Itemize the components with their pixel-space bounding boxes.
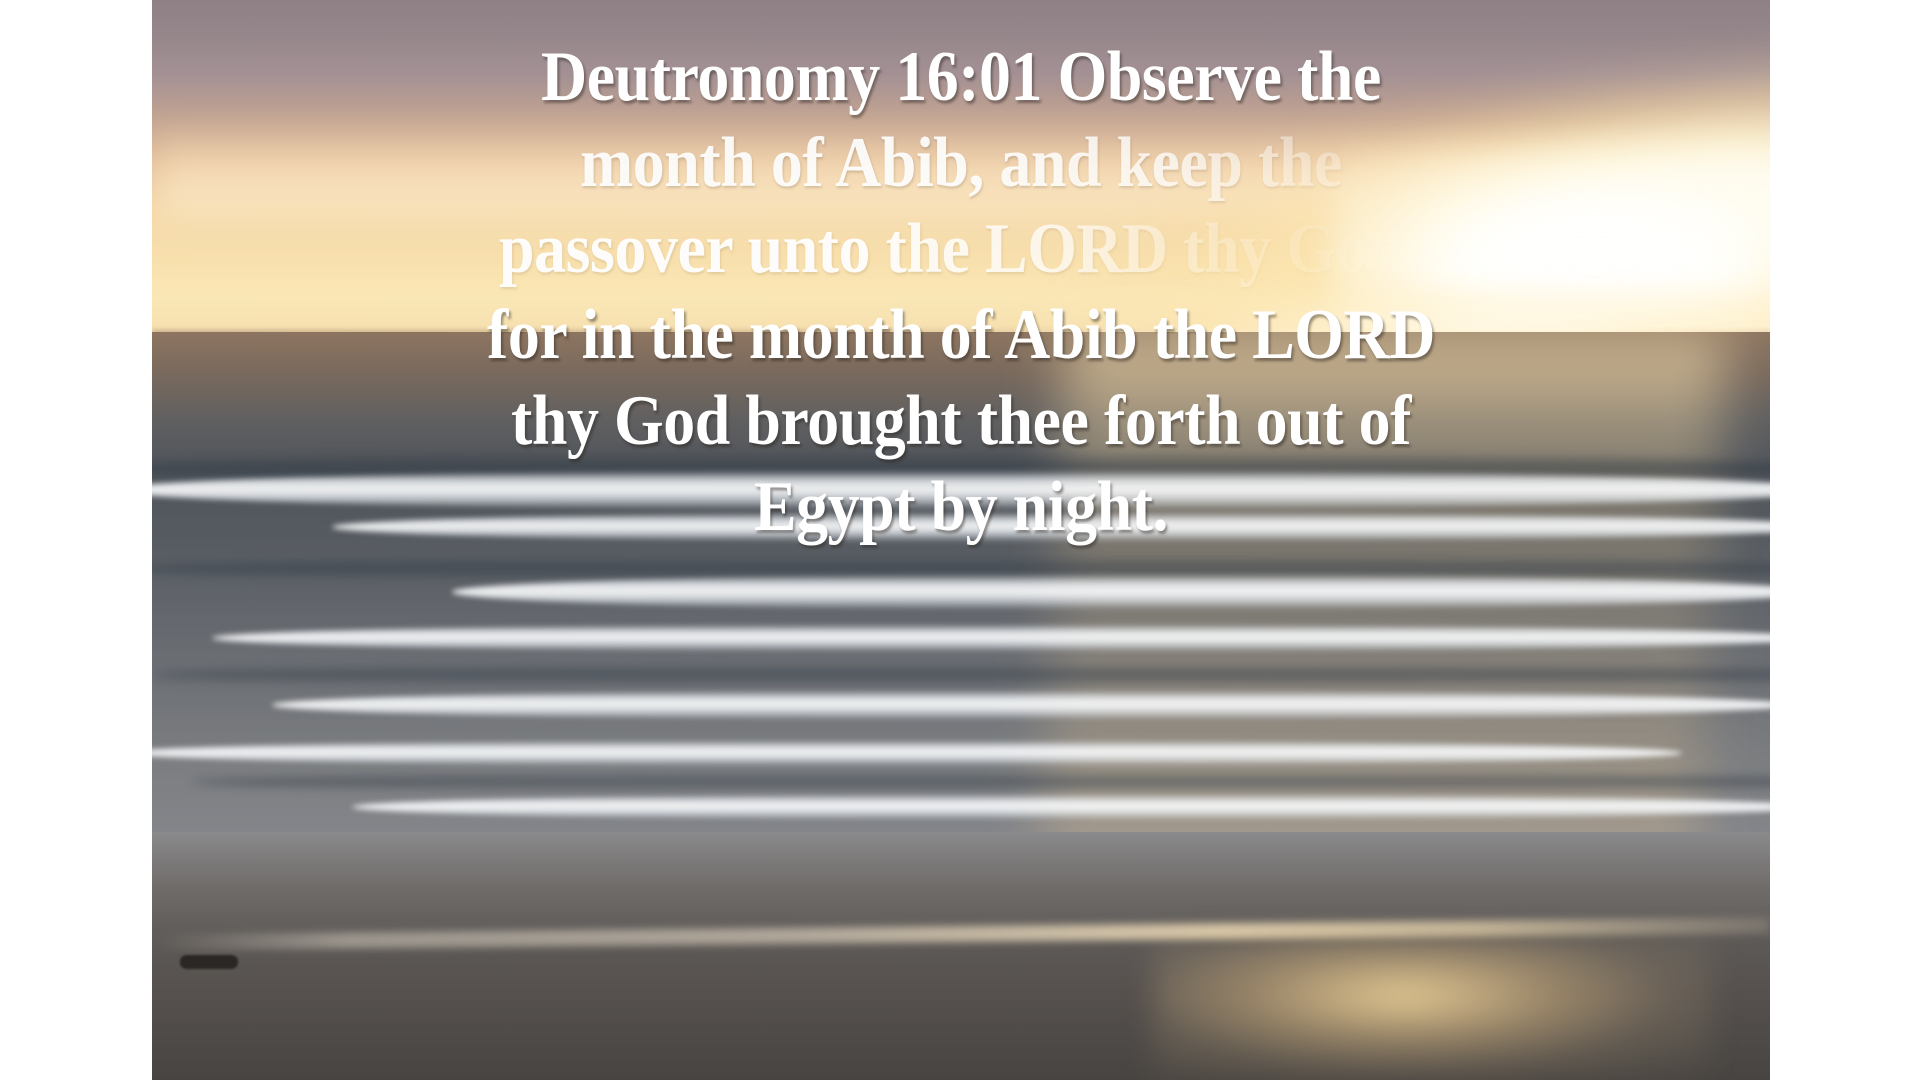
wave-foam: [272, 690, 1770, 720]
slide-canvas: Deutronomy 16:01 Observe the month of Ab…: [0, 0, 1920, 1080]
wave-foam: [212, 624, 1770, 652]
wave-foam: [152, 470, 1770, 510]
wave-foam: [332, 512, 1770, 542]
wave-foam: [152, 740, 1682, 766]
background-photo: [152, 0, 1770, 1080]
wave-foam: [352, 794, 1770, 820]
sand-sun-reflection: [1152, 940, 1712, 1080]
driftwood-object: [180, 955, 238, 969]
wave-foam: [452, 574, 1770, 610]
